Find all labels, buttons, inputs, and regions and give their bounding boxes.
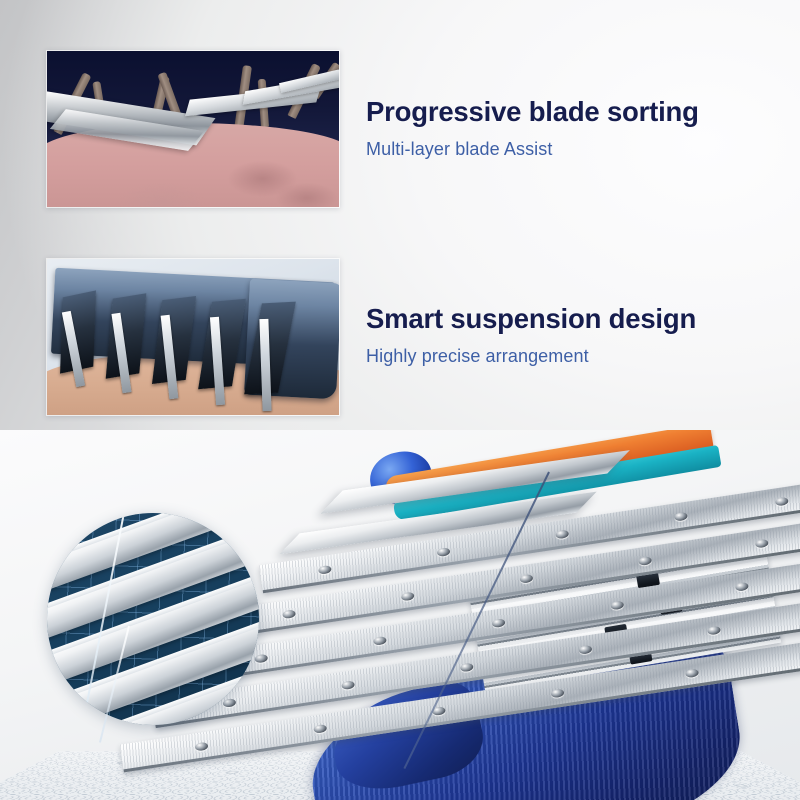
blade-rivet (707, 626, 721, 636)
blade-rivet (373, 636, 387, 646)
feature-subtitle-2: Highly precise arrangement (366, 346, 696, 367)
blade-rivet (555, 529, 569, 539)
suspended-blade-array-illustration (47, 259, 339, 415)
feature-subtitle-1: Multi-layer blade Assist (366, 139, 699, 160)
blade-rivet (735, 582, 749, 592)
razor-blade-stack-hero (0, 430, 800, 800)
feature-title-2: Smart suspension design (366, 303, 696, 335)
blade-rivet (685, 668, 699, 678)
blade-rivet (638, 556, 652, 566)
blade-rivet (578, 645, 592, 655)
blade-rivet (674, 512, 688, 522)
blade-rivet (551, 688, 565, 698)
blade-edge-magnifier (47, 513, 259, 725)
feature-image-panel-2 (46, 258, 340, 416)
blade-rivet (755, 539, 769, 549)
feature-image-panel-1 (46, 50, 340, 208)
blade-rivet (341, 680, 355, 690)
blade-rivet (282, 609, 296, 619)
blade-rivet (519, 574, 533, 584)
feature-text-block-1: Progressive blade sorting Multi-layer bl… (366, 96, 699, 160)
blade-rivet (401, 592, 415, 602)
blade-rivet (437, 547, 451, 557)
blade-rivet (775, 497, 789, 507)
blade-rivet (610, 600, 624, 610)
blade-rivet (460, 663, 474, 673)
blade-rivet (492, 618, 506, 628)
product-feature-graphic: Progressive blade sorting Multi-layer bl… (0, 0, 800, 800)
blade-rivet (318, 565, 332, 575)
feature-title-1: Progressive blade sorting (366, 96, 699, 128)
blade-cutting-hair-illustration (47, 51, 339, 207)
blade-rivet (194, 742, 208, 752)
blade-rivet (313, 724, 327, 734)
feature-text-block-2: Smart suspension design Highly precise a… (366, 303, 696, 367)
